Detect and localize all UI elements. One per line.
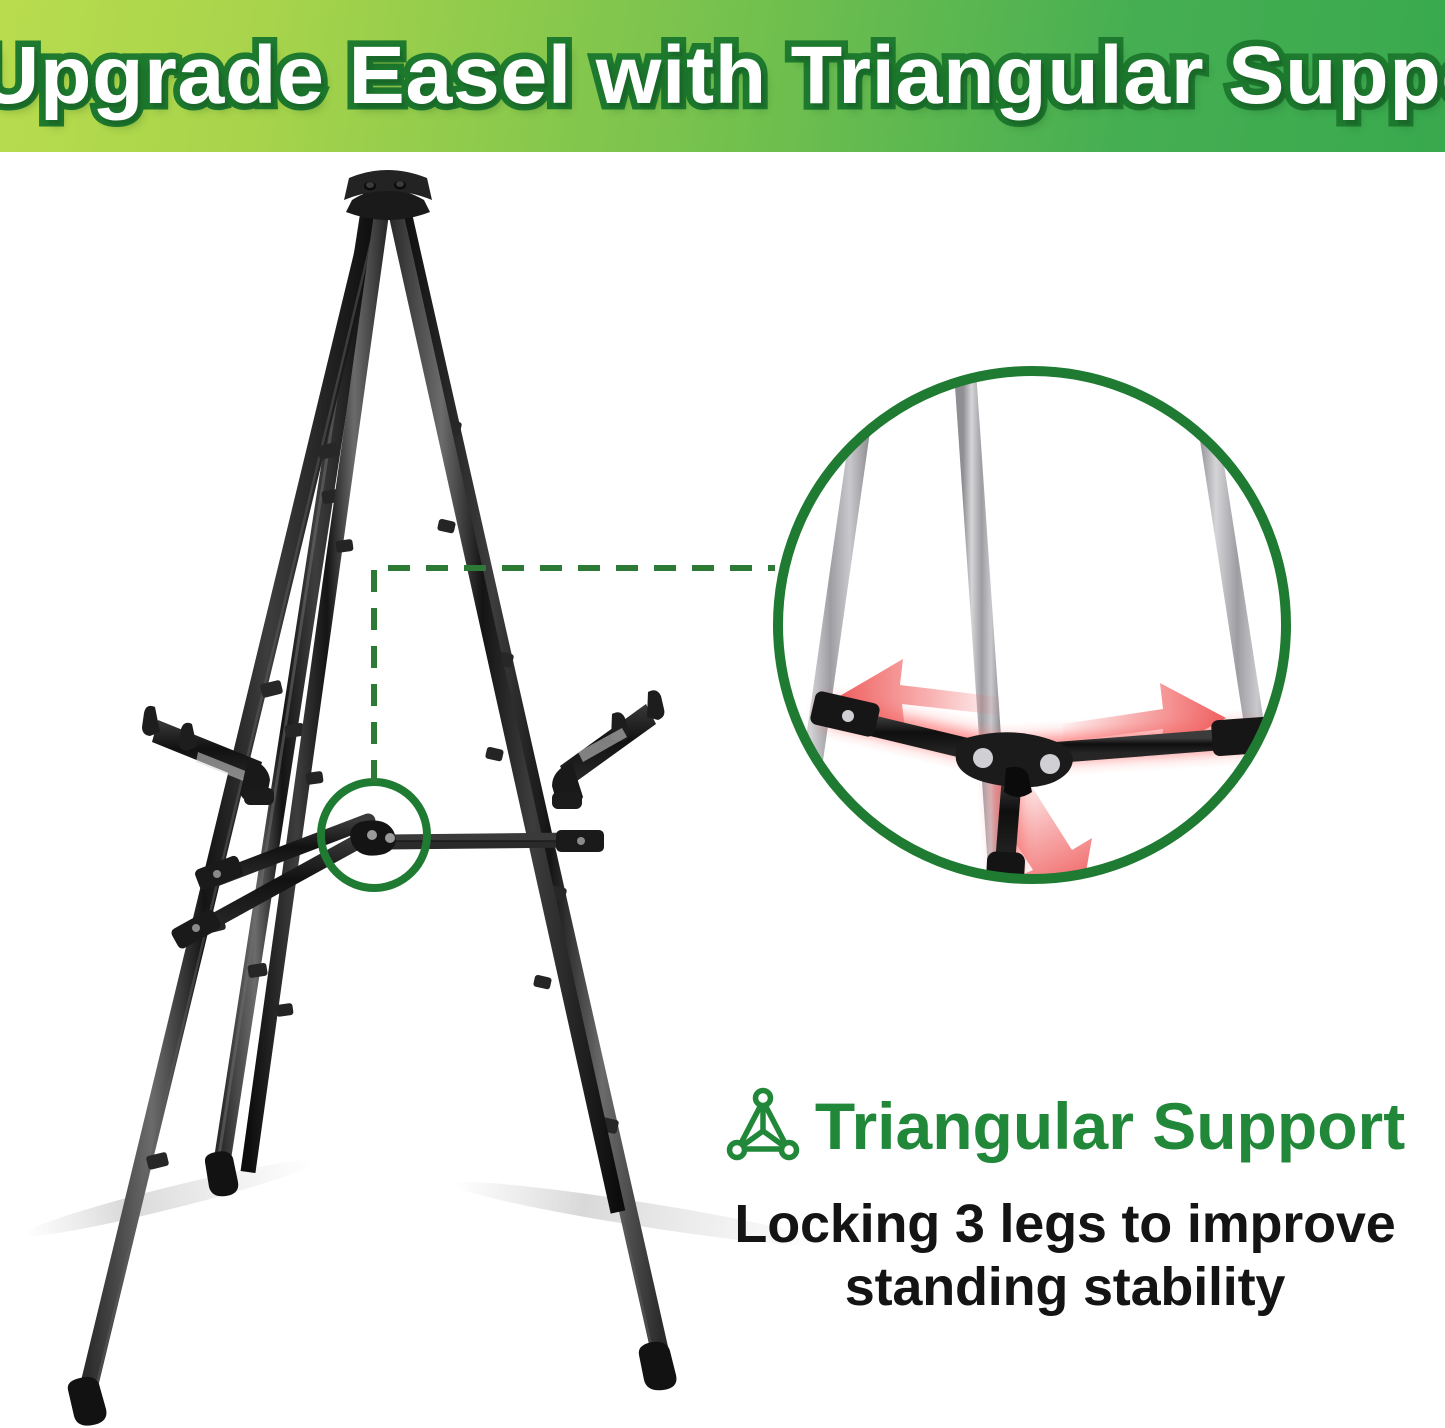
product-stage: Triangular Support Locking 3 legs to imp… — [0, 152, 1445, 1428]
feature-subtext-line-1: Locking 3 legs to improve — [700, 1193, 1430, 1256]
brace-hub-bolt — [973, 748, 993, 768]
page-title: Upgrade Easel with Triangular Support — [0, 35, 1445, 117]
triangular-support-icon — [725, 1087, 801, 1165]
brace-hub-bolt — [1040, 754, 1060, 774]
feature-heading-row: Triangular Support — [700, 1087, 1430, 1165]
feature-text-block: Triangular Support Locking 3 legs to imp… — [700, 1087, 1430, 1318]
icon-node-top — [755, 1091, 770, 1106]
detail-contents — [770, 342, 1300, 917]
icon-node-left — [729, 1143, 744, 1158]
feature-subtext: Locking 3 legs to improve standing stabi… — [700, 1193, 1430, 1318]
header-banner: Upgrade Easel with Triangular Support — [0, 0, 1445, 152]
feature-heading: Triangular Support — [815, 1093, 1405, 1159]
icon-node-right — [781, 1143, 796, 1158]
feature-subtext-line-2: standing stability — [700, 1256, 1430, 1319]
